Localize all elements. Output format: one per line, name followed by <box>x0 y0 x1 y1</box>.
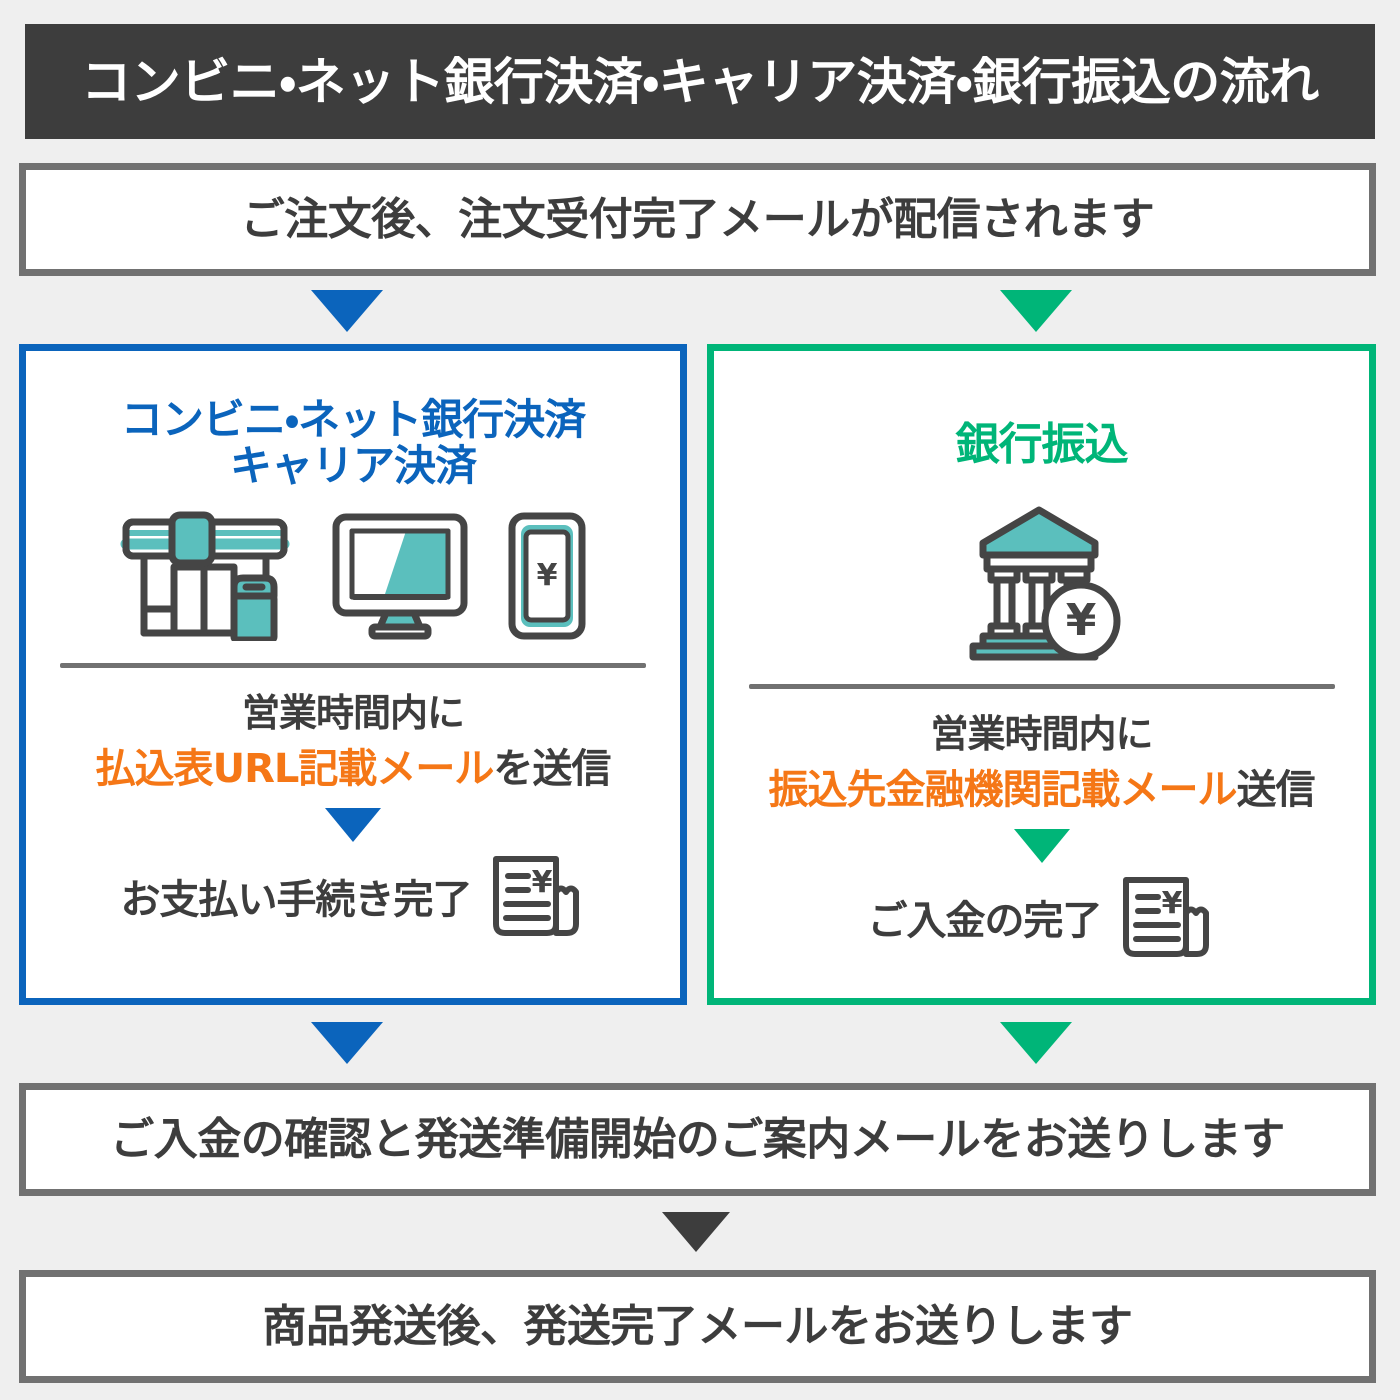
arrow-down-payment-complete-icon <box>325 808 381 842</box>
svg-text:¥: ¥ <box>1161 886 1182 921</box>
receipt-yen-icon: ¥ <box>486 850 586 942</box>
panel-convenience-title-line2: キャリア決済 <box>230 441 476 490</box>
page-title: コンビニ・ネット銀行決済・キャリア決済・銀行振込の流れ <box>81 57 1319 107</box>
flow-diagram-page: コンビニ・ネット銀行決済・キャリア決済・銀行振込の流れ ご注文後、注文受付完了メ… <box>0 0 1400 1400</box>
svg-text:¥: ¥ <box>531 865 552 900</box>
panel-convenience-inner-arrow-wrap <box>26 808 680 842</box>
panel-bank-transfer-title: 銀行振込 <box>714 421 1369 469</box>
panel-bank-transfer-notice: 営業時間内に 振込先金融機関記載メール送信 <box>714 711 1369 815</box>
arrow-down-bank-to-confirm-icon <box>1000 1022 1072 1064</box>
panel-bank-transfer-complete-label: ご入金の完了 <box>868 888 1102 946</box>
convenience-icon-row: ¥ <box>26 511 680 641</box>
panel-convenience-complete-row: お支払い手続き完了 ¥ <box>26 850 680 942</box>
svg-text:¥: ¥ <box>1065 595 1096 646</box>
panel-convenience-complete-label: お支払い手続き完了 <box>121 867 472 925</box>
svg-text:¥: ¥ <box>537 558 558 593</box>
step-text-shipment-complete: 商品発送後、発送完了メールをお送りします <box>263 1305 1133 1349</box>
panel-bank-transfer-notice-line1: 営業時間内に <box>714 711 1369 759</box>
arrow-down-to-shipped-icon <box>662 1212 730 1252</box>
desktop-monitor-icon <box>330 511 470 641</box>
arrow-down-deposit-complete-icon <box>1014 829 1070 863</box>
step-text-order-received: ご注文後、注文受付完了メールが配信されます <box>241 198 1155 242</box>
panel-bank-transfer-inner-arrow-wrap <box>714 829 1369 863</box>
panel-convenience-title-line1: コンビニ・ネット銀行決済 <box>121 395 585 444</box>
panel-convenience-divider <box>60 663 646 668</box>
panel-bank-transfer-complete-row: ご入金の完了 ¥ <box>714 871 1369 963</box>
panel-bank-transfer-divider <box>749 684 1335 689</box>
panel-convenience-notice-line2: 払込表URL記載メールを送信 <box>26 744 680 794</box>
header-bar: コンビニ・ネット銀行決済・キャリア決済・銀行振込の流れ <box>25 24 1375 139</box>
step-box-order-received: ご注文後、注文受付完了メールが配信されます <box>19 163 1376 276</box>
panel-convenience-notice-suffix: を送信 <box>493 746 610 792</box>
step-box-shipment-complete: 商品発送後、発送完了メールをお送りします <box>19 1270 1376 1383</box>
panel-convenience-payment: コンビニ・ネット銀行決済 キャリア決済 <box>19 344 687 1005</box>
step-text-payment-confirmed: ご入金の確認と発送準備開始のご案内メールをお送りします <box>110 1118 1285 1162</box>
convenience-store-icon <box>116 511 294 641</box>
panel-convenience-notice-highlight: 払込表URL記載メール <box>96 746 494 792</box>
receipt-yen-icon: ¥ <box>1116 871 1216 963</box>
panel-convenience-notice: 営業時間内に 払込表URL記載メールを送信 <box>26 690 680 794</box>
panel-bank-transfer-title-line1: 銀行振込 <box>956 419 1128 470</box>
panel-convenience-notice-line1: 営業時間内に <box>26 690 680 738</box>
bank-icon-row: ¥ <box>714 499 1369 663</box>
bank-building-yen-icon: ¥ <box>947 499 1137 663</box>
step-box-payment-confirmed: ご入金の確認と発送準備開始のご案内メールをお送りします <box>19 1083 1376 1196</box>
panel-convenience-title: コンビニ・ネット銀行決済 キャリア決済 <box>26 397 680 489</box>
arrow-down-to-bank-icon <box>1000 290 1072 332</box>
panel-bank-transfer-notice-suffix: 送信 <box>1237 767 1315 813</box>
smartphone-yen-icon: ¥ <box>506 511 590 641</box>
arrow-down-to-convenience-icon <box>311 290 383 332</box>
panel-bank-transfer: 銀行振込 <box>707 344 1376 1005</box>
panel-bank-transfer-notice-highlight: 振込先金融機関記載メール <box>769 767 1237 813</box>
arrow-down-convenience-to-confirm-icon <box>311 1022 383 1064</box>
panel-bank-transfer-notice-line2: 振込先金融機関記載メール送信 <box>714 765 1369 815</box>
